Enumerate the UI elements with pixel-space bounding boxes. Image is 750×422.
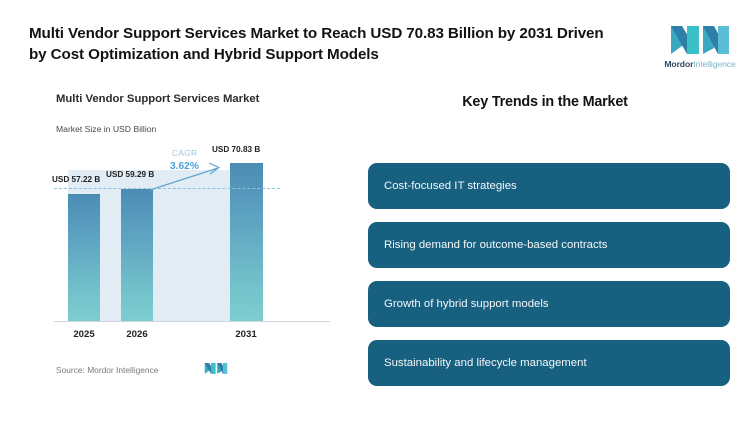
source-logo-icon: [204, 361, 228, 375]
x-axis: [54, 321, 330, 322]
x-tick-2025: 2025: [62, 329, 106, 340]
trend-card-3[interactable]: Growth of hybrid support models: [368, 281, 730, 327]
key-trends-panel: Key Trends in the Market Cost-focused IT…: [360, 84, 750, 404]
chart-title: Multi Vendor Support Services Market: [56, 92, 286, 107]
chart-panel: Multi Vendor Support Services Market Mar…: [0, 84, 345, 404]
cagr-arrow-icon: [46, 146, 336, 346]
brand-primary: Mordor: [664, 59, 693, 69]
header: Multi Vendor Support Services Market to …: [0, 0, 750, 82]
trend-card-label: Sustainability and lifecycle management: [384, 357, 587, 369]
brand-logo: MordorIntelligence: [655, 22, 745, 69]
bar-chart-plot: USD 57.22 B USD 59.29 B USD 70.83 B CAGR…: [46, 146, 336, 346]
x-tick-2026: 2026: [115, 329, 159, 340]
trend-card-label: Growth of hybrid support models: [384, 298, 549, 310]
trend-card-label: Rising demand for outcome-based contract…: [384, 239, 608, 251]
infographic-page: Multi Vendor Support Services Market to …: [0, 0, 750, 422]
brand-wordmark: MordorIntelligence: [655, 59, 745, 69]
chart-subtitle: Market Size in USD Billion: [56, 124, 156, 134]
trend-card-4[interactable]: Sustainability and lifecycle management: [368, 340, 730, 386]
mordor-intelligence-logo-icon: [669, 22, 731, 56]
trends-heading: Key Trends in the Market: [360, 94, 730, 110]
page-title: Multi Vendor Support Services Market to …: [29, 23, 614, 65]
trend-card-1[interactable]: Cost-focused IT strategies: [368, 163, 730, 209]
brand-secondary: Intelligence: [693, 59, 735, 69]
trend-card-label: Cost-focused IT strategies: [384, 180, 517, 192]
chart-source: Source: Mordor Intelligence: [56, 365, 158, 375]
trend-card-2[interactable]: Rising demand for outcome-based contract…: [368, 222, 730, 268]
x-tick-2031: 2031: [224, 329, 268, 340]
